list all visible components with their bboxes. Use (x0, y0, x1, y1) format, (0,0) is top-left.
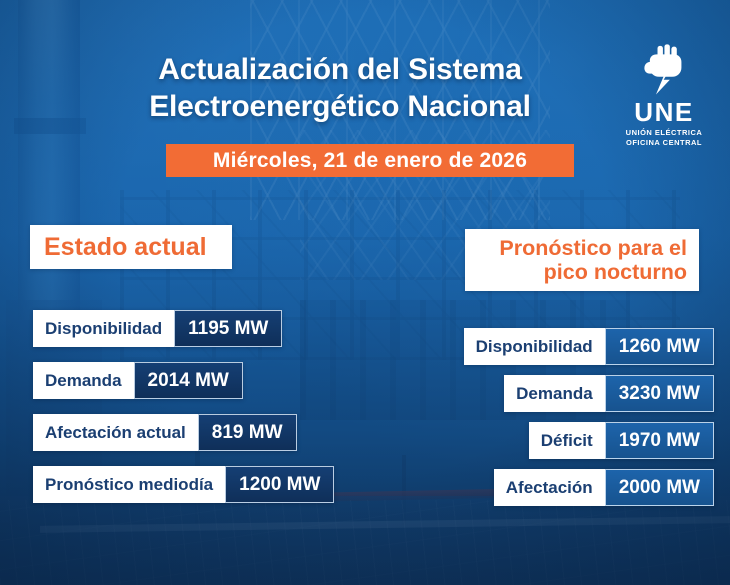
metric-row-afectacion-actual: Afectación actual 819 MW (33, 414, 297, 451)
metric-value: 819 MW (198, 414, 297, 451)
page-title: Actualización del Sistema Electroenergét… (70, 52, 610, 125)
metric-value: 1195 MW (174, 310, 282, 347)
une-logo: UNE UNIÓN ELÉCTRICA OFICINA CENTRAL (616, 42, 712, 147)
metric-label: Déficit (529, 422, 605, 459)
metric-value: 3230 MW (605, 375, 714, 412)
metric-value: 1970 MW (605, 422, 714, 459)
metric-label: Disponibilidad (464, 328, 605, 365)
page-title-line1: Actualización del Sistema (70, 52, 610, 89)
section-heading-line1: Pronóstico para el (499, 236, 687, 260)
metric-row-demanda-actual: Demanda 2014 MW (33, 362, 243, 399)
metric-value: 1260 MW (605, 328, 714, 365)
metric-value: 1200 MW (225, 466, 334, 503)
metric-row-disponibilidad-pico: Disponibilidad 1260 MW (464, 328, 714, 365)
metric-label: Demanda (33, 362, 134, 399)
fist-with-lightning-bolt-icon (639, 42, 688, 96)
metric-label: Demanda (504, 375, 605, 412)
date-banner: Miércoles, 21 de enero de 2026 (166, 144, 574, 177)
metric-value: 2014 MW (134, 362, 243, 399)
metric-row-deficit-pico: Déficit 1970 MW (529, 422, 714, 459)
energy-status-infographic: Actualización del Sistema Electroenergét… (0, 0, 730, 585)
metric-row-pronostico-mediodia: Pronóstico mediodía 1200 MW (33, 466, 334, 503)
section-heading-line2: pico nocturno (499, 260, 687, 284)
metric-label: Disponibilidad (33, 310, 174, 347)
page-title-line2: Electroenergético Nacional (70, 89, 610, 126)
metric-row-afectacion-pico: Afectación 2000 MW (494, 469, 714, 506)
section-heading-current-status: Estado actual (30, 225, 232, 269)
metric-row-disponibilidad-actual: Disponibilidad 1195 MW (33, 310, 282, 347)
metric-row-demanda-pico: Demanda 3230 MW (504, 375, 714, 412)
une-subtitle-1: UNIÓN ELÉCTRICA (616, 128, 712, 137)
metric-value: 2000 MW (605, 469, 714, 506)
une-subtitle-2: OFICINA CENTRAL (616, 138, 712, 147)
section-heading-night-peak-forecast: Pronóstico para el pico nocturno (465, 229, 699, 291)
metric-label: Afectación (494, 469, 605, 506)
metric-label: Pronóstico mediodía (33, 466, 225, 503)
metric-label: Afectación actual (33, 414, 198, 451)
une-wordmark: UNE (616, 99, 712, 125)
